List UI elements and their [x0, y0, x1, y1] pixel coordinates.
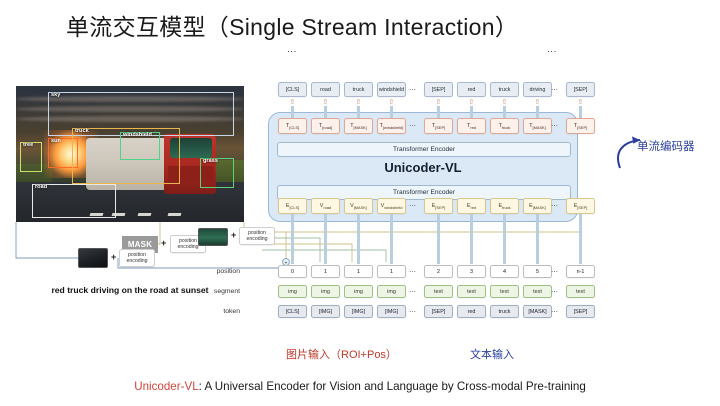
upward-arrow-icon: ⇧ — [436, 99, 442, 106]
lane-dash — [168, 213, 182, 216]
image-input-annotation: 图片输入（ROI+Pos） — [286, 346, 397, 362]
embedding-subscript: [CLS] — [289, 205, 299, 210]
upward-arrow-icon: ⇧ — [535, 99, 541, 106]
token-stem — [357, 106, 359, 118]
hidden-state-chip: Ttruck — [490, 118, 519, 134]
output-token-chip: red — [457, 82, 486, 97]
hidden-state-ellipsis: ⋯ — [409, 122, 417, 130]
embedding-subscript: [MASK] — [533, 205, 546, 210]
unicoder-vl-label: Unicoder-VL — [269, 160, 577, 175]
page-title: 单流交互模型（Single Stream Interaction） — [66, 8, 518, 42]
position-encoding-box: position encoding — [119, 249, 155, 267]
hidden-state-chip: T[CLS] — [278, 118, 307, 134]
hidden-state-subscript: [road] — [322, 125, 332, 130]
embedding-stem — [536, 214, 538, 264]
roi-box-grass: grass — [200, 158, 234, 188]
plus-icon: + — [161, 238, 166, 248]
token-ellipsis: ⋯ — [551, 308, 559, 316]
embedding-chip: Ered — [457, 198, 486, 214]
embedding-subscript: [SEP] — [577, 205, 587, 210]
text-input-annotation: 文本输入 — [470, 346, 514, 362]
hidden-state-chip: T[SEP] — [566, 118, 595, 134]
position-chip: n-1 — [566, 265, 595, 278]
token-chip: red — [457, 305, 486, 318]
row-label-position: position — [180, 268, 240, 275]
roi-label-truck: truck — [75, 128, 89, 135]
lane-dash — [138, 213, 152, 216]
single-stream-encoder-annotation: 单流编码器 — [637, 138, 695, 154]
embedding-subscript: truck — [502, 205, 510, 210]
output-token-chip: [SEP] — [566, 82, 595, 97]
paper-title-footer: Unicoder-VL: A Universal Encoder for Vis… — [0, 380, 720, 393]
segment-chip: text — [490, 285, 519, 298]
token-chip: [IMG] — [377, 305, 406, 318]
output-token-chip: road — [311, 82, 340, 97]
segment-chip: text — [523, 285, 552, 298]
output-token-chip: truck — [490, 82, 519, 97]
roi-label-grass: grass — [203, 158, 218, 165]
token-stem — [503, 106, 505, 118]
embedding-stem — [357, 214, 359, 264]
embedding-subscript: [MASK] — [354, 205, 367, 210]
output-token-ellipsis: ⋯ — [551, 86, 559, 94]
embedding-chip: V[MASK] — [344, 198, 373, 214]
embedding-subscript: red — [470, 205, 476, 210]
embedding-stem — [579, 214, 581, 264]
position-chip: 4 — [490, 265, 519, 278]
upward-arrow-icon: ⇧ — [469, 99, 475, 106]
upward-arrow-icon: ⇧ — [323, 99, 329, 106]
embedding-stem — [470, 214, 472, 264]
hidden-state-subscript: [windshield] — [383, 125, 403, 130]
hidden-state-subscript: [SEP] — [435, 125, 445, 130]
position-ellipsis: ⋯ — [409, 268, 417, 276]
embedding-chip: Vroad — [311, 198, 340, 214]
segment-chip: img — [344, 285, 373, 298]
hidden-state-subscript: [MASK] — [533, 125, 546, 130]
embedding-subscript: [SEP] — [435, 205, 445, 210]
output-token-chip: windshield — [377, 82, 406, 97]
hidden-state-subscript: [MASK] — [354, 125, 367, 130]
roi-label-road: road — [35, 184, 47, 191]
transformer-encoder-top: Transformer Encoder — [277, 142, 571, 157]
token-stem — [536, 106, 538, 118]
position-chip: 3 — [457, 265, 486, 278]
paper-brand: Unicoder-VL — [134, 380, 198, 393]
hidden-state-chip: Tred — [457, 118, 486, 134]
hidden-state-chip: T[SEP] — [424, 118, 453, 134]
token-chip: [IMG] — [311, 305, 340, 318]
upward-arrow-icon: ⇧ — [356, 99, 362, 106]
roi-box-windshield: windshield — [120, 132, 160, 160]
hidden-state-subscript: red — [470, 125, 476, 130]
row-label-token: token — [180, 308, 240, 315]
upward-arrow-icon: ⇧ — [290, 99, 296, 106]
paper-subtitle: : A Universal Encoder for Vision and Lan… — [199, 380, 586, 393]
vertical-dots-left: ⋮ — [287, 47, 296, 56]
row-label-segment: segment — [180, 288, 240, 295]
upward-arrow-icon: ⇧ — [389, 99, 395, 106]
embedding-chip: Vwindshield — [377, 198, 406, 214]
embedding-chip: Etruck — [490, 198, 519, 214]
segment-chip: text — [424, 285, 453, 298]
upward-arrow-icon: ⇧ — [578, 99, 584, 106]
segment-chip: img — [278, 285, 307, 298]
embedding-ellipsis: ⋯ — [409, 202, 417, 210]
vertical-dots-right: ⋮ — [547, 47, 556, 56]
roi-thumbnail-windshield — [198, 228, 228, 246]
upward-arrow-icon: ⇧ — [502, 99, 508, 106]
token-ellipsis: ⋯ — [409, 308, 417, 316]
source-image: sky tree sun truck windshield grass road — [16, 86, 244, 222]
segment-ellipsis: ⋯ — [551, 288, 559, 296]
hidden-state-chip: T[road] — [311, 118, 340, 134]
token-stem — [390, 106, 392, 118]
plus-icon: + — [231, 230, 236, 240]
embedding-stem — [291, 214, 293, 264]
position-chip: 1 — [377, 265, 406, 278]
position-encoding-box: position encoding — [239, 227, 275, 245]
position-ellipsis: ⋯ — [551, 268, 559, 276]
embedding-subscript: windshield — [384, 205, 402, 210]
roi-label-sun: sun — [51, 138, 61, 145]
roi-label-tree: tree — [23, 142, 33, 149]
output-token-chip: driving — [523, 82, 552, 97]
embedding-stem — [503, 214, 505, 264]
embedding-ellipsis: ⋯ — [551, 202, 559, 210]
output-token-chip: truck — [344, 82, 373, 97]
roi-label-windshield: windshield — [123, 132, 152, 139]
hidden-state-ellipsis: ⋯ — [551, 122, 559, 130]
token-chip: [SEP] — [566, 305, 595, 318]
roi-box-tree: tree — [20, 142, 42, 172]
output-token-ellipsis: ⋯ — [409, 86, 417, 94]
hidden-state-subscript: truck — [502, 125, 510, 130]
embedding-chip: E[SEP] — [424, 198, 453, 214]
token-chip: truck — [490, 305, 519, 318]
token-chip: [MASK] — [523, 305, 552, 318]
hidden-state-chip: T[MASK] — [344, 118, 373, 134]
segment-chip: text — [566, 285, 595, 298]
embedding-chip: E[MASK] — [523, 198, 552, 214]
token-chip: [SEP] — [424, 305, 453, 318]
output-token-chip: [CLS] — [278, 82, 307, 97]
token-stem — [324, 106, 326, 118]
embedding-stem — [324, 214, 326, 264]
segment-ellipsis: ⋯ — [409, 288, 417, 296]
token-stem — [291, 106, 293, 118]
position-chip: 0 — [278, 265, 307, 278]
segment-chip: img — [377, 285, 406, 298]
embedding-stem — [437, 214, 439, 264]
plus-icon: + — [111, 252, 116, 262]
token-chip: [IMG] — [344, 305, 373, 318]
position-chip: 2 — [424, 265, 453, 278]
hidden-state-chip: T[MASK] — [523, 118, 552, 134]
output-token-chip: [SEP] — [424, 82, 453, 97]
roi-thumbnail-road — [78, 248, 108, 268]
roi-label-sky: sky — [51, 92, 60, 99]
embedding-chip: E[CLS] — [278, 198, 307, 214]
token-stem — [579, 106, 581, 118]
token-chip: [CLS] — [278, 305, 307, 318]
embedding-stem — [390, 214, 392, 264]
hidden-state-chip: T[windshield] — [377, 118, 406, 134]
roi-box-road: road — [32, 184, 116, 218]
embedding-subscript: road — [323, 205, 331, 210]
position-chip: 5 — [523, 265, 552, 278]
segment-chip: text — [457, 285, 486, 298]
position-chip: 1 — [344, 265, 373, 278]
hidden-state-subscript: [CLS] — [289, 125, 299, 130]
hidden-state-subscript: [SEP] — [577, 125, 587, 130]
segment-chip: img — [311, 285, 340, 298]
embedding-chip: E[SEP] — [566, 198, 595, 214]
token-stem — [437, 106, 439, 118]
position-chip: 1 — [311, 265, 340, 278]
token-stem — [470, 106, 472, 118]
